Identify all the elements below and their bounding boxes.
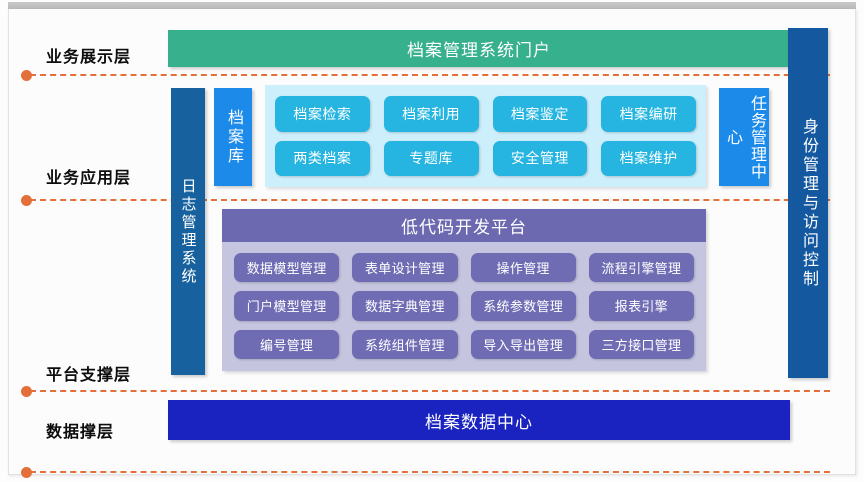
lowcode-module-chip[interactable]: 三方接口管理 [589, 330, 694, 359]
layer-divider-3 [30, 390, 830, 392]
task-center-bar[interactable]: 任务管理中心 [719, 88, 769, 186]
lowcode-module-chip[interactable]: 编号管理 [234, 330, 339, 359]
archive-repository-bar[interactable]: 档案库 [214, 88, 252, 186]
layer-label-application: 业务应用层 [46, 164, 131, 188]
layer-label-platform: 平台支撑层 [46, 361, 131, 385]
app-module-chip[interactable]: 专题库 [384, 141, 479, 177]
application-modules-panel: 档案检索 档案利用 档案鉴定 档案编研 两类档案 专题库 安全管理 档案维护 [265, 85, 706, 187]
app-module-chip[interactable]: 安全管理 [493, 141, 588, 177]
log-management-bar[interactable]: 日志管理系统 [171, 88, 205, 375]
window-chrome-bar [8, 2, 856, 9]
application-modules-grid: 档案检索 档案利用 档案鉴定 档案编研 两类档案 专题库 安全管理 档案维护 [275, 96, 696, 176]
layer-label-data: 数据撑层 [46, 418, 114, 442]
lowcode-module-chip[interactable]: 导入导出管理 [471, 330, 576, 359]
layer-label-presentation: 业务展示层 [46, 43, 131, 67]
divider-dot-icon [21, 70, 32, 81]
data-center-bar[interactable]: 档案数据中心 [168, 400, 790, 440]
lowcode-module-chip[interactable]: 系统参数管理 [471, 291, 576, 320]
app-module-chip[interactable]: 档案鉴定 [493, 96, 588, 132]
divider-dot-icon [21, 386, 32, 397]
layer-divider-4 [30, 471, 830, 473]
lowcode-module-chip[interactable]: 系统组件管理 [352, 330, 457, 359]
lowcode-platform-title: 低代码开发平台 [222, 209, 706, 242]
lowcode-module-chip[interactable]: 流程引擎管理 [589, 253, 694, 282]
app-module-chip[interactable]: 两类档案 [275, 141, 370, 177]
lowcode-module-chip[interactable]: 门户模型管理 [234, 291, 339, 320]
portal-bar[interactable]: 档案管理系统门户 [168, 30, 790, 67]
lowcode-module-chip[interactable]: 数据字典管理 [352, 291, 457, 320]
architecture-diagram: 业务展示层 业务应用层 平台支撑层 数据撑层 档案管理系统门户 日志管理系统 档… [0, 0, 864, 482]
app-module-chip[interactable]: 档案检索 [275, 96, 370, 132]
divider-dot-icon [21, 467, 32, 478]
layer-divider-2 [30, 199, 830, 201]
app-module-chip[interactable]: 档案维护 [601, 141, 696, 177]
app-module-chip[interactable]: 档案编研 [601, 96, 696, 132]
lowcode-platform-panel: 低代码开发平台 数据模型管理 表单设计管理 操作管理 流程引擎管理 门户模型管理… [222, 209, 706, 371]
lowcode-modules-grid: 数据模型管理 表单设计管理 操作管理 流程引擎管理 门户模型管理 数据字典管理 … [222, 242, 706, 371]
divider-dot-icon [21, 195, 32, 206]
lowcode-module-chip[interactable]: 报表引擎 [589, 291, 694, 320]
app-module-chip[interactable]: 档案利用 [384, 96, 479, 132]
identity-access-control-bar[interactable]: 身份管理与访问控制 [788, 28, 828, 378]
lowcode-module-chip[interactable]: 操作管理 [471, 253, 576, 282]
lowcode-module-chip[interactable]: 数据模型管理 [234, 253, 339, 282]
lowcode-module-chip[interactable]: 表单设计管理 [352, 253, 457, 282]
layer-divider-1 [30, 74, 830, 76]
